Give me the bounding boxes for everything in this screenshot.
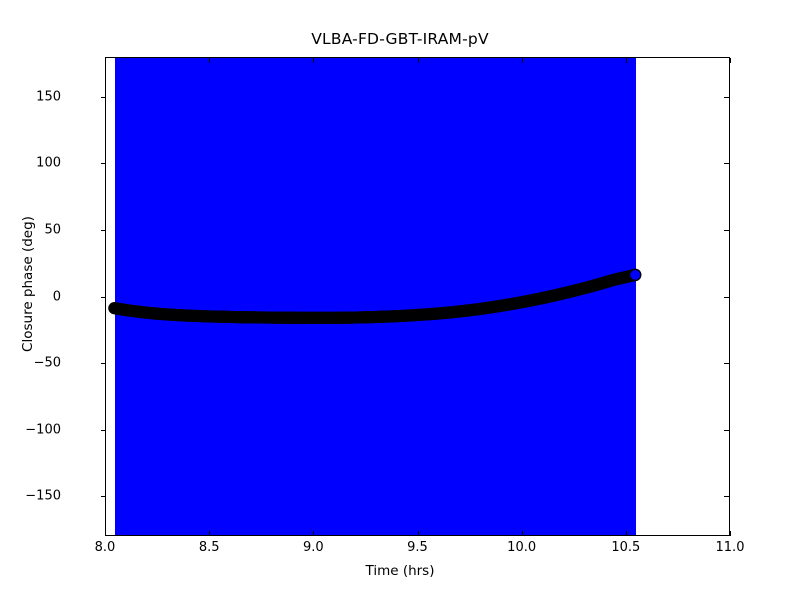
x-tick-mark (626, 531, 627, 536)
x-tick-mark-top (522, 58, 523, 63)
y-tick-mark (101, 297, 106, 298)
x-tick-mark-top (105, 58, 106, 63)
x-tick-mark (522, 531, 523, 536)
x-tick-mark-top (418, 58, 419, 63)
y-tick-mark-right (724, 496, 729, 497)
x-tick-label: 9.5 (373, 540, 463, 555)
x-tick-label: 9.0 (268, 540, 358, 555)
x-tick-mark-top (313, 58, 314, 63)
shaded-scan-region (115, 58, 636, 535)
y-tick-mark-right (724, 230, 729, 231)
y-tick-mark (101, 97, 106, 98)
y-tick-mark (101, 163, 106, 164)
y-tick-label: 0 (0, 289, 61, 304)
y-tick-mark (101, 230, 106, 231)
y-tick-mark-right (724, 430, 729, 431)
y-tick-mark (101, 496, 106, 497)
y-tick-label: −150 (0, 489, 61, 504)
x-tick-label: 11.0 (685, 540, 775, 555)
plot-area (105, 57, 730, 536)
y-tick-mark (101, 430, 106, 431)
x-tick-label: 8.0 (60, 540, 150, 555)
x-axis-label: Time (hrs) (0, 563, 800, 579)
x-tick-mark-top (730, 58, 731, 63)
x-tick-label: 10.0 (477, 540, 567, 555)
y-tick-label: 150 (0, 89, 61, 104)
y-tick-label: −50 (0, 356, 61, 371)
y-tick-label: −100 (0, 422, 61, 437)
x-tick-mark (313, 531, 314, 536)
y-tick-mark-right (724, 163, 729, 164)
y-tick-mark-right (724, 297, 729, 298)
y-tick-label: 50 (0, 222, 61, 237)
x-tick-label: 8.5 (164, 540, 254, 555)
y-tick-mark-right (724, 97, 729, 98)
x-tick-label: 10.5 (581, 540, 671, 555)
y-tick-mark-right (724, 363, 729, 364)
x-tick-mark (209, 531, 210, 536)
figure-canvas: VLBA-FD-GBT-IRAM-pV Closure phase (deg) … (0, 0, 800, 600)
y-tick-label: 100 (0, 156, 61, 171)
y-axis-label: Closure phase (deg) (20, 184, 36, 384)
y-tick-mark (101, 363, 106, 364)
x-tick-mark-top (626, 58, 627, 63)
x-tick-mark (730, 531, 731, 536)
x-tick-mark (418, 531, 419, 536)
x-tick-mark (105, 531, 106, 536)
chart-title: VLBA-FD-GBT-IRAM-pV (0, 30, 800, 48)
x-tick-mark-top (209, 58, 210, 63)
